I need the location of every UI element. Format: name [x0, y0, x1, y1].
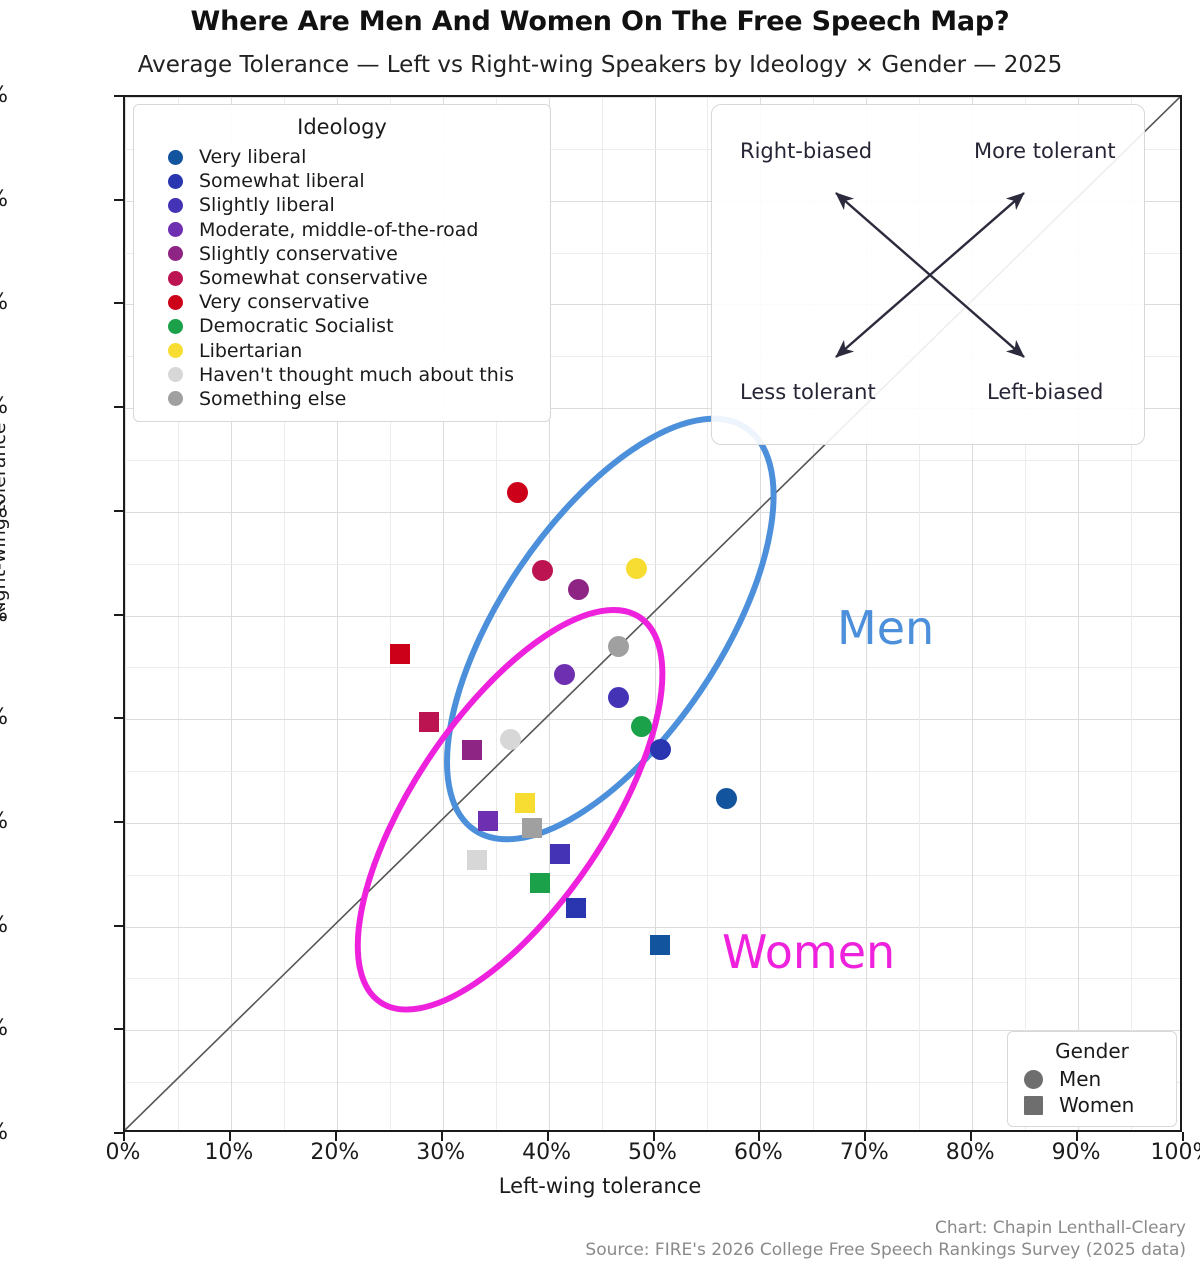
y-tick-label: 70%	[0, 394, 8, 419]
chart-root: Where Are Men And Women On The Free Spee…	[0, 0, 1200, 1264]
x-tick-label: 30%	[381, 1140, 501, 1165]
data-point[interactable]	[522, 818, 542, 838]
y-tick-label: 80%	[0, 290, 8, 315]
ideology-legend-label: Slightly conservative	[199, 243, 398, 265]
y-tick-mark	[114, 821, 123, 823]
x-tick-mark	[1182, 1132, 1184, 1141]
ideology-legend-label: Somewhat conservative	[199, 267, 428, 289]
x-tick-mark	[123, 1132, 125, 1141]
y-tick-mark	[114, 510, 123, 512]
data-point[interactable]	[532, 560, 553, 581]
data-point[interactable]	[568, 579, 589, 600]
chart-subtitle: Average Tolerance — Left vs Right-wing S…	[0, 52, 1200, 78]
x-tick-mark	[441, 1132, 443, 1141]
legend-marker-icon	[168, 150, 183, 165]
data-point[interactable]	[419, 712, 439, 732]
legend-marker-icon	[168, 222, 183, 237]
y-tick-label: 10%	[0, 1016, 8, 1041]
ideology-legend-item[interactable]: Very conservative	[144, 290, 540, 314]
data-point[interactable]	[530, 873, 550, 893]
legend-marker-icon	[168, 319, 183, 334]
ideology-legend-label: Very liberal	[199, 146, 306, 168]
legend-marker-icon	[168, 391, 183, 406]
ideology-legend-label: Democratic Socialist	[199, 315, 394, 337]
ideology-legend-item[interactable]: Something else	[144, 387, 540, 411]
x-tick-label: 40%	[487, 1140, 607, 1165]
y-tick-mark	[114, 614, 123, 616]
quadrant-inset: Right-biased More tolerant Less tolerant…	[711, 104, 1145, 445]
data-point[interactable]	[462, 740, 482, 760]
data-point[interactable]	[566, 898, 586, 918]
data-point[interactable]	[716, 788, 737, 809]
legend-marker-icon	[168, 246, 183, 261]
x-tick-mark	[653, 1132, 655, 1141]
x-axis-label: Left-wing tolerance	[0, 1174, 1200, 1198]
data-point[interactable]	[467, 850, 487, 870]
ideology-legend[interactable]: Ideology Very liberalSomewhat liberalSli…	[133, 104, 551, 422]
gender-legend-item[interactable]: Men	[1018, 1066, 1166, 1092]
y-tick-label: 60%	[0, 498, 8, 523]
gender-legend[interactable]: Gender MenWomen	[1007, 1031, 1177, 1127]
data-point[interactable]	[650, 739, 671, 760]
x-tick-mark	[864, 1132, 866, 1141]
ideology-legend-label: Moderate, middle-of-the-road	[199, 219, 478, 241]
ideology-legend-item[interactable]: Somewhat conservative	[144, 266, 540, 290]
legend-marker-icon	[168, 198, 183, 213]
x-tick-label: 100%	[1122, 1140, 1200, 1165]
y-tick-mark	[114, 1132, 123, 1134]
y-tick-mark	[114, 406, 123, 408]
data-point[interactable]	[650, 935, 670, 955]
source-credit: Source: FIRE's 2026 College Free Speech …	[585, 1240, 1186, 1260]
ideology-legend-item[interactable]: Haven't thought much about this	[144, 363, 540, 387]
data-point[interactable]	[478, 811, 498, 831]
x-tick-label: 20%	[275, 1140, 395, 1165]
x-tick-mark	[335, 1132, 337, 1141]
ideology-legend-item[interactable]: Democratic Socialist	[144, 314, 540, 338]
cluster-ellipse-women	[301, 564, 720, 1056]
ideology-legend-item[interactable]: Very liberal	[144, 145, 540, 169]
y-tick-mark	[114, 302, 123, 304]
y-tick-mark	[114, 717, 123, 719]
y-tick-label: 30%	[0, 809, 8, 834]
legend-marker-icon	[168, 367, 183, 382]
ideology-legend-item[interactable]: Moderate, middle-of-the-road	[144, 218, 540, 242]
x-tick-mark	[758, 1132, 760, 1141]
x-tick-label: 50%	[593, 1140, 713, 1165]
gender-legend-label: Women	[1059, 1093, 1134, 1117]
data-point[interactable]	[608, 687, 629, 708]
x-tick-label: 10%	[169, 1140, 289, 1165]
ideology-legend-label: Haven't thought much about this	[199, 364, 514, 386]
x-tick-label: 0%	[63, 1140, 183, 1165]
ideology-legend-label: Slightly liberal	[199, 194, 335, 216]
x-tick-label: 80%	[910, 1140, 1030, 1165]
legend-marker-icon	[168, 295, 183, 310]
y-tick-label: 0%	[0, 1120, 8, 1145]
page-title: Where Are Men And Women On The Free Spee…	[0, 6, 1200, 37]
data-point[interactable]	[550, 844, 570, 864]
y-tick-label: 40%	[0, 705, 8, 730]
x-tick-label: 90%	[1016, 1140, 1136, 1165]
ideology-legend-label: Somewhat liberal	[199, 170, 365, 192]
x-tick-label: 70%	[804, 1140, 924, 1165]
cluster-label-men: Men	[837, 601, 934, 655]
quadrant-arrows-icon	[712, 105, 1146, 446]
ideology-legend-item[interactable]: Slightly liberal	[144, 193, 540, 217]
legend-marker-icon	[168, 174, 183, 189]
data-point[interactable]	[515, 793, 535, 813]
x-tick-label: 60%	[698, 1140, 818, 1165]
gender-legend-label: Men	[1059, 1067, 1101, 1091]
x-tick-mark	[547, 1132, 549, 1141]
y-tick-mark	[114, 95, 123, 97]
x-tick-mark	[1076, 1132, 1078, 1141]
ideology-legend-item[interactable]: Slightly conservative	[144, 242, 540, 266]
y-tick-label: 50%	[0, 602, 8, 627]
y-tick-mark	[114, 199, 123, 201]
cluster-label-women: Women	[722, 925, 895, 979]
data-point[interactable]	[507, 482, 528, 503]
legend-marker-icon	[168, 343, 183, 358]
y-tick-mark	[114, 925, 123, 927]
ideology-legend-label: Libertarian	[199, 340, 302, 362]
data-point[interactable]	[554, 664, 575, 685]
x-tick-mark	[970, 1132, 972, 1141]
chart-credit: Chart: Chapin Lenthall-Cleary	[935, 1218, 1186, 1238]
square-marker-icon	[1024, 1096, 1043, 1115]
ideology-legend-item[interactable]: Somewhat liberal	[144, 169, 540, 193]
y-tick-label: 90%	[0, 187, 8, 212]
ideology-legend-label: Very conservative	[199, 291, 369, 313]
data-point[interactable]	[390, 644, 410, 664]
ideology-legend-label: Something else	[199, 388, 346, 410]
y-tick-label: 20%	[0, 913, 8, 938]
y-tick-mark	[114, 1028, 123, 1030]
ideology-legend-item[interactable]: Libertarian	[144, 339, 540, 363]
data-point[interactable]	[608, 636, 629, 657]
x-tick-mark	[229, 1132, 231, 1141]
circle-marker-icon	[1024, 1070, 1043, 1089]
legend-marker-icon	[168, 271, 183, 286]
ideology-legend-title: Ideology	[144, 115, 540, 139]
gender-legend-item[interactable]: Women	[1018, 1092, 1166, 1118]
y-tick-label: 100%	[0, 83, 8, 108]
gender-legend-title: Gender	[1018, 1039, 1166, 1063]
